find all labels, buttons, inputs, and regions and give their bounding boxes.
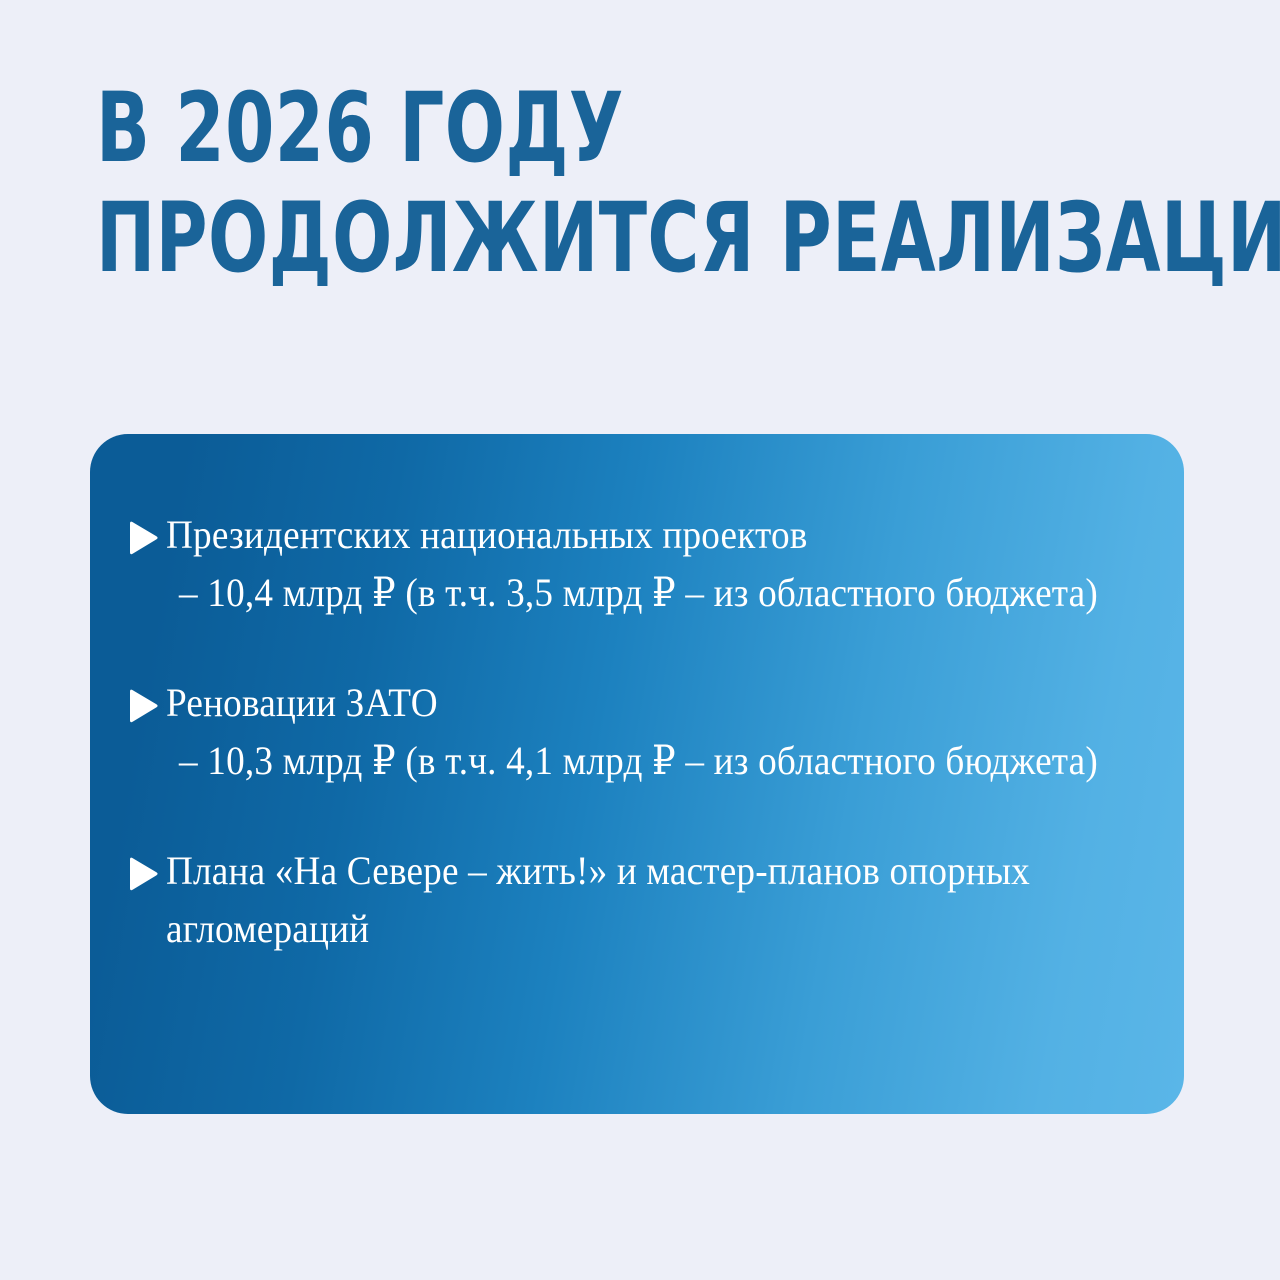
triangle-right-icon xyxy=(120,688,166,724)
list-item: Реновации ЗАТО – 10,3 млрд ₽ (в т.ч. 4,1… xyxy=(118,674,1138,790)
page-title: В 2026 ГОДУ ПРОДОЛЖИТСЯ РЕАЛИЗАЦИЯ: xyxy=(96,78,1196,288)
list-item: Плана «На Севере – жить!» и мастер-плано… xyxy=(118,842,1138,958)
bullets-list: Президентских национальных проектов – 10… xyxy=(90,434,1184,958)
bullets-card: Президентских национальных проектов – 10… xyxy=(90,434,1184,1114)
list-item-text: Реновации ЗАТО – 10,3 млрд ₽ (в т.ч. 4,1… xyxy=(166,674,1098,790)
list-item-text: Плана «На Севере – жить!» и мастер-плано… xyxy=(166,842,1070,958)
title-line-2: ПРОДОЛЖИТСЯ РЕАЛИЗАЦИЯ: xyxy=(96,188,998,288)
bullet-line-1: Президентских национальных проектов xyxy=(166,506,1098,564)
infographic-slide: В 2026 ГОДУ ПРОДОЛЖИТСЯ РЕАЛИЗАЦИЯ: През… xyxy=(0,0,1280,1280)
list-item-text: Президентских национальных проектов – 10… xyxy=(166,506,1098,622)
bullet-line-1: Реновации ЗАТО xyxy=(166,674,1098,732)
bullet-line-1: Плана «На Севере – жить!» и мастер-плано… xyxy=(166,842,1070,900)
title-line-1: В 2026 ГОДУ xyxy=(96,78,998,178)
bullet-line-2: агломераций xyxy=(166,900,1070,958)
triangle-right-icon xyxy=(120,856,166,892)
triangle-right-icon xyxy=(120,520,166,556)
bullet-line-2: – 10,3 млрд ₽ (в т.ч. 4,1 млрд ₽ – из об… xyxy=(166,732,1098,790)
bullet-line-2: – 10,4 млрд ₽ (в т.ч. 3,5 млрд ₽ – из об… xyxy=(166,564,1098,622)
list-item: Президентских национальных проектов – 10… xyxy=(118,506,1138,622)
